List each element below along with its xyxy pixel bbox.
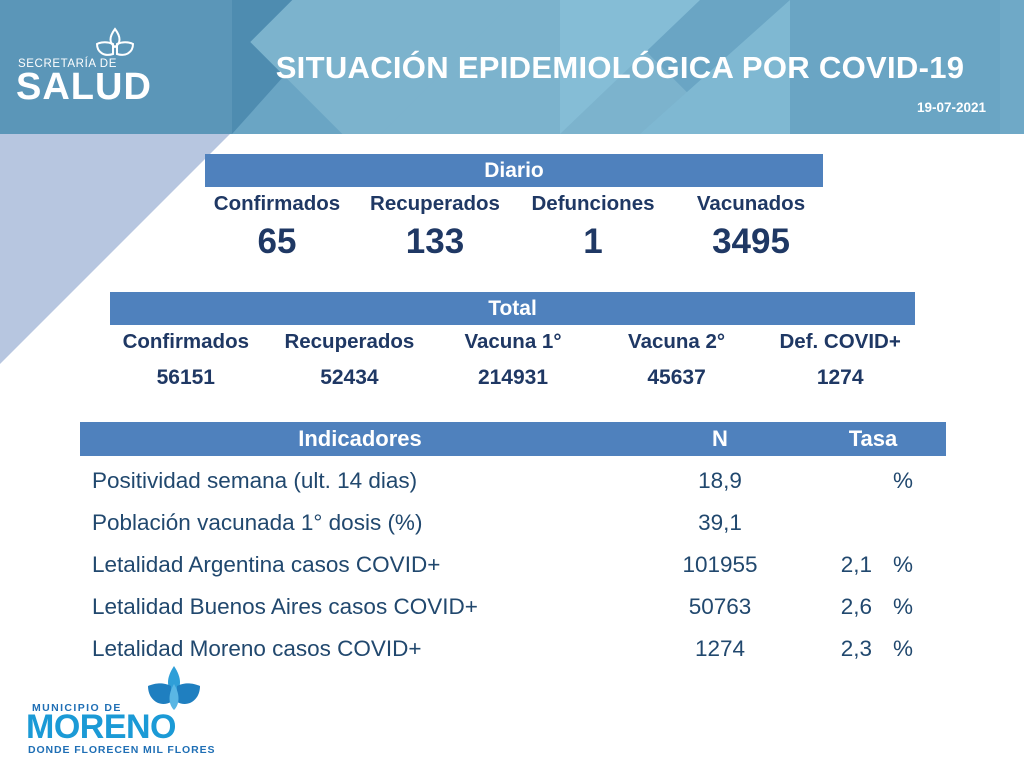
total-value: 214931	[431, 366, 595, 390]
header-decor-right-edge	[1000, 0, 1024, 134]
diario-header-row: Confirmados Recuperados Defunciones Vacu…	[198, 192, 830, 216]
secretaria-salud-logo: SECRETARÍA DE SALUD	[8, 18, 198, 118]
indicator-unit: %	[872, 628, 934, 670]
total-value-row: 56151 52434 214931 45637 1274	[104, 366, 922, 390]
indicadores-header-n: N	[640, 426, 800, 452]
indicadores-header-name: Indicadores	[80, 426, 640, 452]
table-row: Positividad semana (ult. 14 dias)18,9%	[80, 460, 946, 502]
municipio-moreno-logo: MUNICIPIO DE MORENO DONDE FLORECEN MIL F…	[10, 664, 240, 762]
report-date: 19-07-2021	[917, 100, 986, 115]
indicator-n: 18,9	[640, 460, 800, 502]
diario-section-header: Diario	[205, 154, 823, 187]
diario-col-header: Recuperados	[356, 192, 514, 216]
indicator-unit: %	[872, 586, 934, 628]
total-col-header: Vacuna 2°	[595, 330, 759, 354]
diario-value-row: 65 133 1 3495	[198, 222, 830, 262]
total-value: 45637	[595, 366, 759, 390]
total-band-label: Total	[488, 297, 537, 321]
indicator-name: Letalidad Buenos Aires casos COVID+	[80, 586, 640, 628]
total-value: 52434	[268, 366, 432, 390]
total-value: 1274	[758, 366, 922, 390]
diario-band-label: Diario	[484, 159, 544, 183]
indicator-n: 1274	[640, 628, 800, 670]
indicator-n: 50763	[640, 586, 800, 628]
moreno-wordmark: MORENO	[26, 710, 176, 744]
table-row: Población vacunada 1° dosis (%)39,1	[80, 502, 946, 544]
indicator-tasa: 2,1	[800, 544, 872, 586]
total-section-header: Total	[110, 292, 915, 325]
total-col-header: Def. COVID+	[758, 330, 922, 354]
total-col-header: Confirmados	[104, 330, 268, 354]
diario-value: 1	[514, 222, 672, 262]
moreno-tagline: DONDE FLORECEN MIL FLORES	[28, 744, 215, 756]
diario-value: 65	[198, 222, 356, 262]
indicator-unit: %	[872, 544, 934, 586]
indicadores-header-tasa: Tasa	[800, 426, 946, 452]
total-col-header: Vacuna 1°	[431, 330, 595, 354]
indicator-name: Letalidad Argentina casos COVID+	[80, 544, 640, 586]
total-header-row: Confirmados Recuperados Vacuna 1° Vacuna…	[104, 330, 922, 354]
salud-wordmark: SALUD	[16, 68, 152, 106]
indicator-n: 101955	[640, 544, 800, 586]
diario-col-header: Confirmados	[198, 192, 356, 216]
indicator-name: Población vacunada 1° dosis (%)	[80, 502, 640, 544]
table-row: Letalidad Buenos Aires casos COVID+50763…	[80, 586, 946, 628]
indicadores-table-header: IndicadoresNTasa	[80, 422, 946, 456]
total-col-header: Recuperados	[268, 330, 432, 354]
diario-value: 3495	[672, 222, 830, 262]
indicator-name: Positividad semana (ult. 14 dias)	[80, 460, 640, 502]
indicator-unit: %	[872, 460, 934, 502]
diario-col-header: Vacunados	[672, 192, 830, 216]
diario-col-header: Defunciones	[514, 192, 672, 216]
indicator-tasa: 2,6	[800, 586, 872, 628]
indicadores-table-body: Positividad semana (ult. 14 dias)18,9% P…	[80, 460, 946, 670]
indicator-n: 39,1	[640, 502, 800, 544]
page-header: SECRETARÍA DE SALUD SITUACIÓN EPIDEMIOLÓ…	[0, 0, 1024, 134]
table-row: Letalidad Argentina casos COVID+1019552,…	[80, 544, 946, 586]
diario-value: 133	[356, 222, 514, 262]
page-title: SITUACIÓN EPIDEMIOLÓGICA POR COVID-19	[240, 50, 1000, 86]
total-value: 56151	[104, 366, 268, 390]
indicator-tasa: 2,3	[800, 628, 872, 670]
